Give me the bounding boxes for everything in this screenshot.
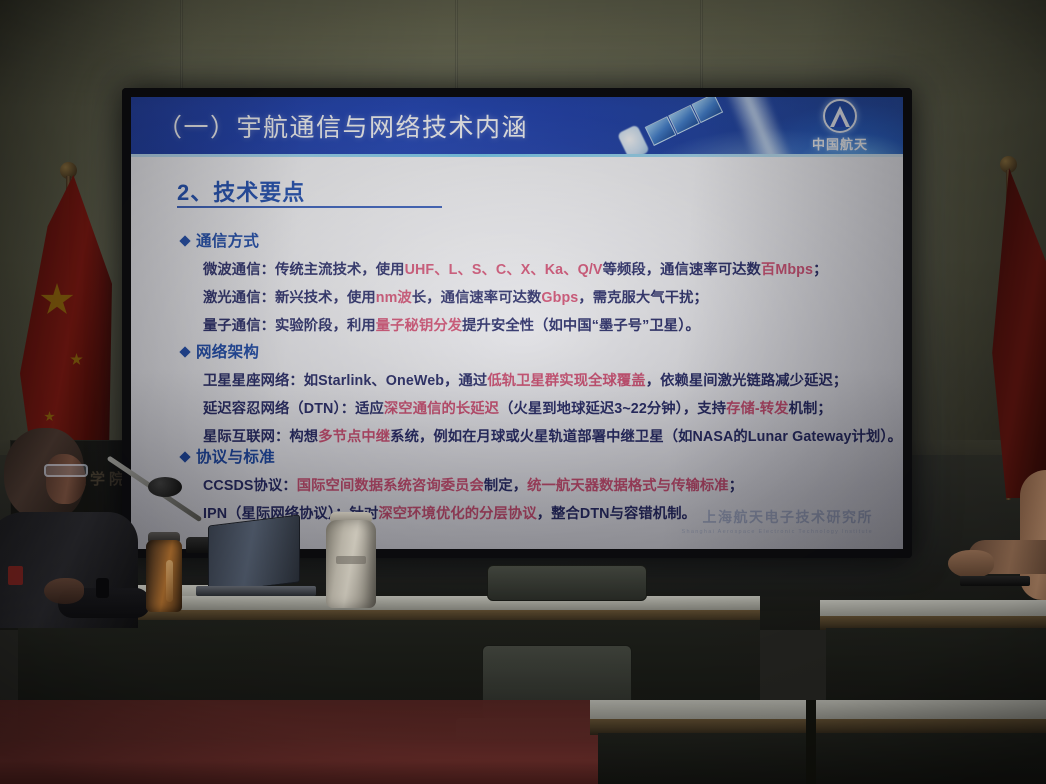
highlighted-text: 深空通信的长延迟 <box>384 401 499 417</box>
presentation-display[interactable]: （一）宇航通信与网络技术内涵 中国航天 2、技术要点 通信方式微波通信：传统主流… <box>122 88 912 558</box>
body-text: （火星到地球延迟3~22分钟），支持 <box>499 401 726 417</box>
thermos-flask <box>146 540 182 612</box>
bullet-line: 激光通信：新兴技术，使用nm波长，通信速率可达数Gbps，需克服大气干扰； <box>203 286 827 307</box>
body-text: ，需克服大气干扰； <box>578 290 708 306</box>
wristwatch-icon <box>96 578 109 598</box>
water-bottle <box>326 520 376 608</box>
diamond-bullet-icon <box>179 235 190 246</box>
body-text: 等频段，通信速率可达数 <box>603 262 761 278</box>
bullet-group-network-architecture: 网络架构卫星星座网络：如Starlink、OneWeb，通过低轨卫星群实现全球覆… <box>181 340 902 446</box>
highlighted-text: 统一航天器数据格式与传输标准 <box>527 478 729 494</box>
casc-rocket-logo-icon: 中国航天 <box>803 99 877 154</box>
bullet-group-protocols-standards: 协议与标准CCSDS协议：国际空间数据系统咨询委员会制定，统一航天器数据格式与传… <box>181 445 743 523</box>
presenter-hand <box>44 578 84 604</box>
body-text: 微波通信：传统主流技术，使用 <box>203 262 405 278</box>
slide-footer-watermark: 上海航天电子技术研究所 Shanghai Aerospace Electroni… <box>682 507 873 535</box>
body-text: ； <box>729 478 743 494</box>
eyeglasses-icon <box>44 464 88 477</box>
attendee-hand <box>948 550 994 578</box>
body-text: 制定， <box>484 478 527 494</box>
body-text: ； <box>813 262 827 278</box>
slide-header-band: （一）宇航通信与网络技术内涵 中国航天 <box>131 97 903 154</box>
flag-star-small-2 <box>44 411 55 422</box>
bullet-line: 量子通信：实验阶段，利用量子秘钥分发提升安全性（如中国“墨子号”卫星）。 <box>203 314 827 335</box>
chair-back-far <box>487 565 647 601</box>
body-text: 延迟容忍网络（DTN）：适应 <box>203 401 384 417</box>
thermos-highlight <box>166 560 173 602</box>
bullet-group-heading-label: 网络架构 <box>196 344 259 361</box>
section-title-rule <box>177 206 442 208</box>
attendee-person-right <box>968 470 1046 620</box>
attendee-document <box>960 576 1030 586</box>
laptop-screen <box>208 514 300 593</box>
highlighted-text: 存储-转发 <box>726 401 788 417</box>
front-table-leg <box>806 700 816 784</box>
presenter-badge <box>8 566 23 585</box>
body-text: 机制； <box>789 401 832 417</box>
bullet-line: 微波通信：传统主流技术，使用UHF、L、S、C、X、Ka、Q/V等频段，通信速率… <box>203 258 827 279</box>
diamond-bullet-icon <box>179 346 190 357</box>
bullet-group-communication-methods: 通信方式微波通信：传统主流技术，使用UHF、L、S、C、X、Ka、Q/V等频段，… <box>181 229 827 335</box>
body-text: ，依赖星间激光链路减少延迟； <box>646 373 848 389</box>
flag-star-large <box>40 283 74 317</box>
highlighted-text: UHF、L、S、C、X、Ka、Q/V <box>405 262 603 278</box>
laptop-computer[interactable] <box>196 520 316 602</box>
body-text: 卫星星座网络：如Starlink、OneWeb，通过 <box>203 373 487 389</box>
highlighted-text: 百Mbps <box>761 262 813 278</box>
body-text: 量子通信：实验阶段，利用 <box>203 318 376 334</box>
highlighted-text: Gbps <box>541 290 578 306</box>
bullet-line: 星际互联网：构想多节点中继系统，例如在月球或火星轨道部署中继卫星（如NASA的L… <box>203 425 902 446</box>
highlighted-text: 多节点中继 <box>318 429 390 445</box>
highlighted-text: 低轨卫星群实现全球覆盖 <box>487 373 645 389</box>
laptop-keyboard-base[interactable] <box>196 586 316 596</box>
front-table-body <box>598 733 1046 784</box>
presenter-face <box>46 454 86 504</box>
body-text: 长，通信速率可达数 <box>412 290 542 306</box>
bullet-group-heading-label: 通信方式 <box>196 233 259 250</box>
conference-room-scene: 工程学院 （一）宇航通信与网络技术内涵 中国航天 <box>0 0 1046 784</box>
bullet-line: CCSDS协议：国际空间数据系统咨询委员会制定，统一航天器数据格式与传输标准； <box>203 474 743 495</box>
highlighted-text: nm波 <box>376 290 412 306</box>
slide-canvas: （一）宇航通信与网络技术内涵 中国航天 2、技术要点 通信方式微波通信：传统主流… <box>131 97 903 549</box>
casc-logo-mark <box>823 99 857 133</box>
slide-body: 2、技术要点 通信方式微波通信：传统主流技术，使用UHF、L、S、C、X、Ka、… <box>131 157 903 549</box>
bullet-group-heading: 通信方式 <box>181 229 827 251</box>
bullet-line: 卫星星座网络：如Starlink、OneWeb，通过低轨卫星群实现全球覆盖，依赖… <box>203 369 902 390</box>
section-title: 2、技术要点 <box>177 175 305 207</box>
body-text: 提升安全性（如中国“墨子号”卫星）。 <box>462 318 700 334</box>
water-bottle-label <box>336 556 366 564</box>
microphone-head-icon <box>148 477 182 497</box>
bullet-group-heading: 网络架构 <box>181 340 902 362</box>
footer-institute-cn: 上海航天电子技术研究所 <box>682 507 873 527</box>
flag-star-small <box>70 353 83 366</box>
bullet-group-heading: 协议与标准 <box>181 445 743 467</box>
body-text: ，整合DTN与容错机制。 <box>537 506 696 522</box>
slide-title: （一）宇航通信与网络技术内涵 <box>157 108 528 144</box>
highlighted-text: 量子秘钥分发 <box>376 318 462 334</box>
footer-institute-en: Shanghai Aerospace Electronic Technology… <box>682 529 873 535</box>
casc-logo-label: 中国航天 <box>803 134 877 153</box>
body-text: 星际互联网：构想 <box>203 429 318 445</box>
body-text: 激光通信：新兴技术，使用 <box>203 290 376 306</box>
body-text: 系统，例如在月球或火星轨道部署中继卫星（如NASA的Lunar Gateway计… <box>390 429 902 445</box>
highlighted-text: 深空环境优化的分层协议 <box>378 506 536 522</box>
bullet-line: 延迟容忍网络（DTN）：适应深空通信的长延迟（火星到地球延迟3~22分钟），支持… <box>203 397 902 418</box>
highlighted-text: 国际空间数据系统咨询委员会 <box>297 478 484 494</box>
